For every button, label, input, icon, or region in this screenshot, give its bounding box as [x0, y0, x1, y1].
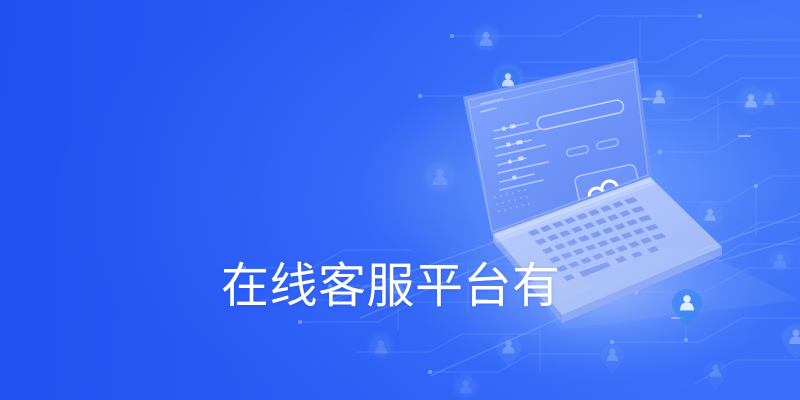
headline-line-1: 在线客服平台有 [221, 256, 601, 318]
user-avatar-bubble-far [755, 84, 783, 112]
page-title: 在线客服平台有 哪些优势特点？ [221, 132, 601, 400]
map-pin-icon [704, 361, 727, 391]
map-pin-icon [782, 324, 800, 360]
banner-canvas: 在线客服平台有 哪些优势特点？ [0, 0, 800, 400]
